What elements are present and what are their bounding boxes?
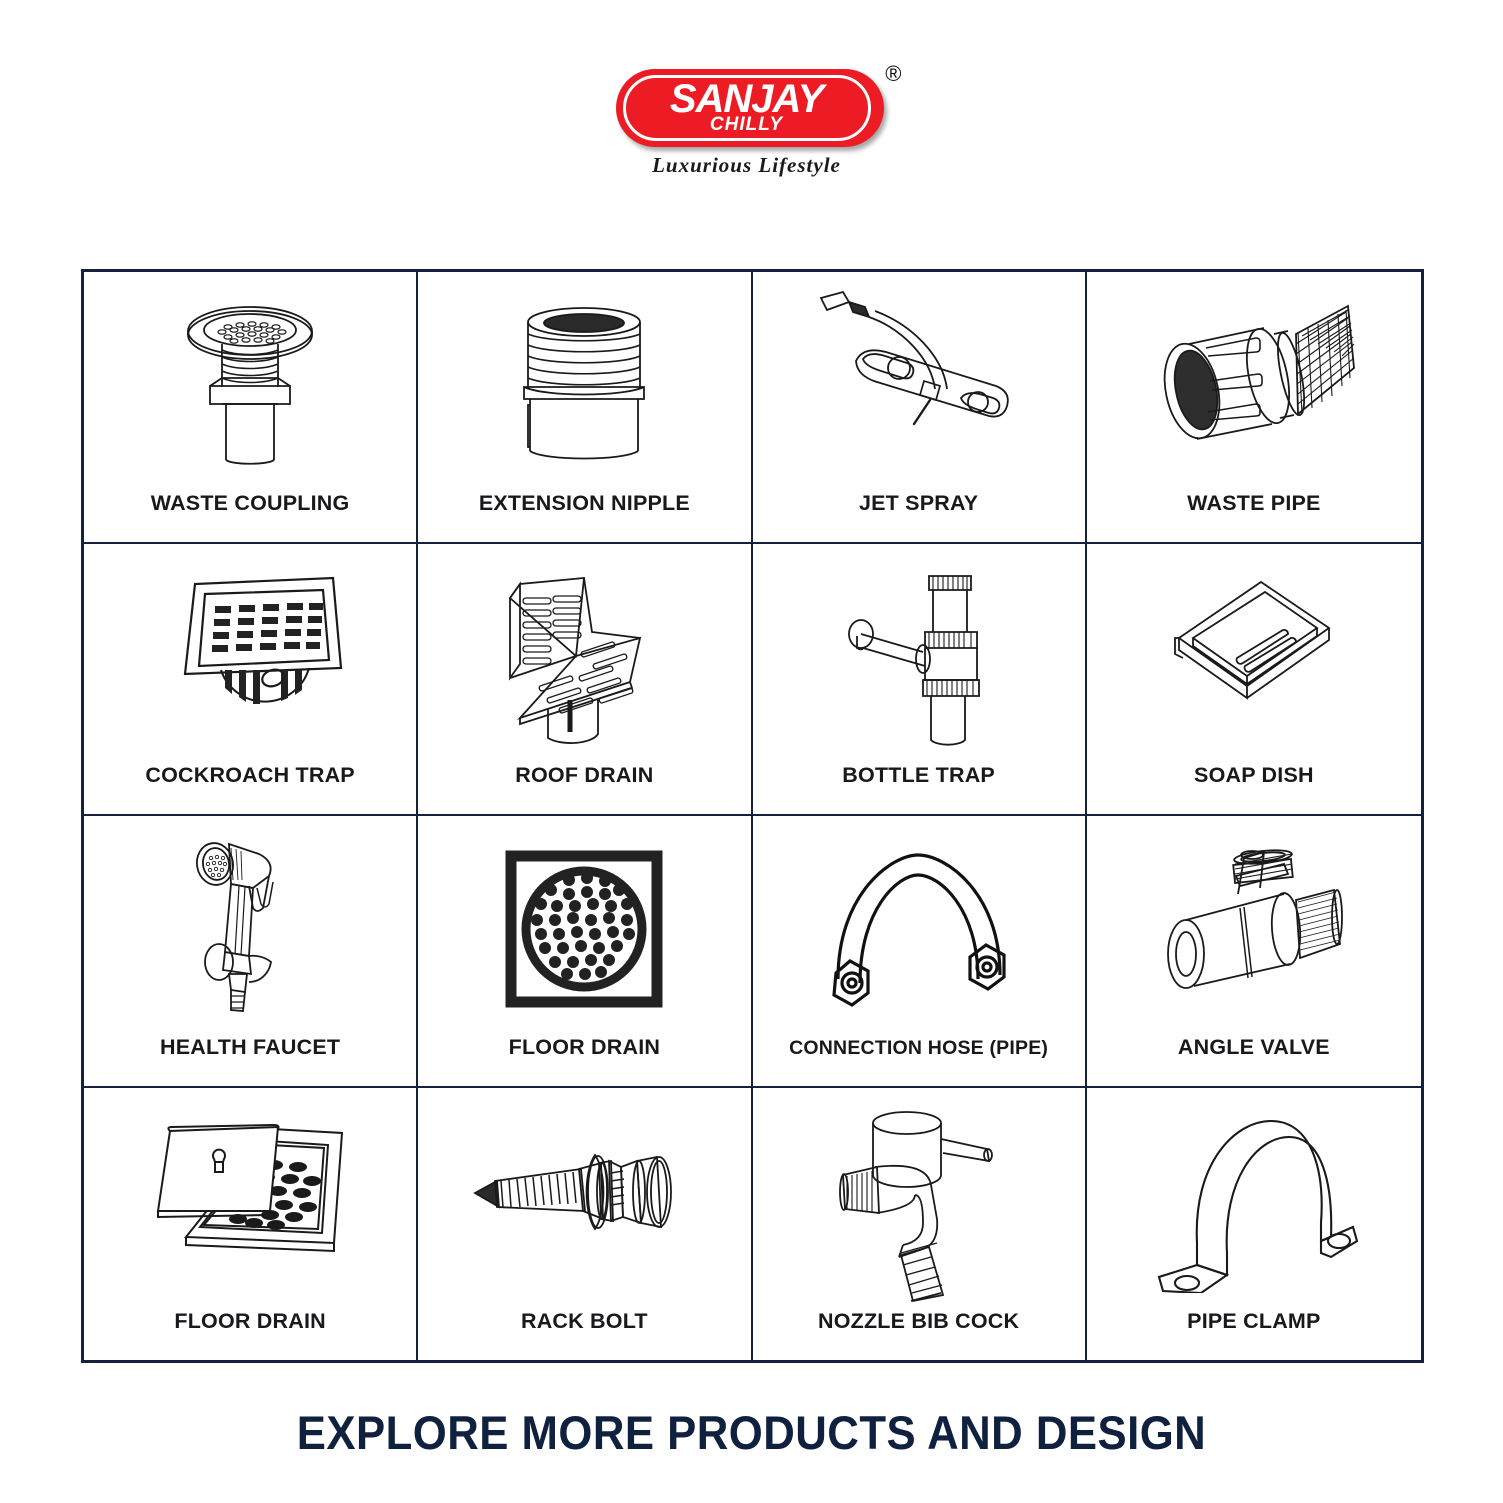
product-label: WASTE COUPLING	[84, 491, 416, 542]
product-cell-nozzle-bib-cock[interactable]: NOZZLE BIB COCK	[753, 1088, 1087, 1360]
product-grid: WASTE COUPLING EX	[81, 269, 1424, 1363]
brand-header: SANJAY CHILLY ® Luxurious Lifestyle	[0, 0, 1503, 250]
product-label: ANGLE VALVE	[1087, 1035, 1421, 1086]
product-cell-waste-pipe[interactable]: WASTE PIPE	[1087, 272, 1421, 544]
floor-drain-cover-icon	[84, 1088, 416, 1309]
product-cell-floor-drain-cover[interactable]: FLOOR DRAIN	[84, 1088, 418, 1360]
product-label: FLOOR DRAIN	[84, 1309, 416, 1360]
nozzle-bib-cock-icon	[753, 1088, 1085, 1309]
product-cell-extension-nipple[interactable]: EXTENSION NIPPLE	[418, 272, 752, 544]
pipe-clamp-icon	[1087, 1088, 1421, 1309]
product-label: FLOOR DRAIN	[418, 1035, 750, 1086]
product-label: ROOF DRAIN	[418, 763, 750, 814]
logo-brand-name: SANJAY	[602, 79, 892, 119]
sanjay-chilly-logo: SANJAY CHILLY ® Luxurious Lifestyle	[602, 63, 902, 188]
logo-brand-subname: CHILLY	[602, 115, 892, 134]
product-label: NOZZLE BIB COCK	[753, 1309, 1085, 1360]
product-cell-health-faucet[interactable]: HEALTH FAUCET	[84, 816, 418, 1088]
product-label: PIPE CLAMP	[1087, 1309, 1421, 1360]
health-faucet-icon	[84, 816, 416, 1035]
product-cell-waste-coupling[interactable]: WASTE COUPLING	[84, 272, 418, 544]
product-cell-bottle-trap[interactable]: BOTTLE TRAP	[753, 544, 1087, 816]
product-cell-connection-hose[interactable]: CONNECTION HOSE (PIPE)	[753, 816, 1087, 1088]
angle-valve-icon	[1087, 816, 1421, 1035]
product-label: HEALTH FAUCET	[84, 1035, 416, 1086]
footer-headline: EXPLORE MORE PRODUCTS AND DESIGN	[53, 1405, 1451, 1460]
product-cell-jet-spray[interactable]: JET SPRAY	[753, 272, 1087, 544]
product-cell-cockroach-trap[interactable]: COCKROACH TRAP	[84, 544, 418, 816]
bottle-trap-icon	[753, 544, 1085, 763]
product-label: COCKROACH TRAP	[84, 763, 416, 814]
cockroach-trap-icon	[84, 544, 416, 763]
soap-dish-icon	[1087, 544, 1421, 763]
floor-drain-square-icon	[418, 816, 750, 1035]
product-label: CONNECTION HOSE (PIPE)	[753, 1037, 1085, 1086]
product-cell-pipe-clamp[interactable]: PIPE CLAMP	[1087, 1088, 1421, 1360]
extension-nipple-icon	[418, 272, 750, 491]
registered-trademark-icon: ®	[885, 63, 901, 85]
product-cell-rack-bolt[interactable]: RACK BOLT	[418, 1088, 752, 1360]
roof-drain-icon	[418, 544, 750, 763]
logo-tagline: Luxurious Lifestyle	[602, 153, 892, 178]
product-label: BOTTLE TRAP	[753, 763, 1085, 814]
connection-hose-icon	[753, 816, 1085, 1037]
waste-coupling-icon	[84, 272, 416, 491]
product-label: SOAP DISH	[1087, 763, 1421, 814]
rack-bolt-icon	[418, 1088, 750, 1309]
product-cell-angle-valve[interactable]: ANGLE VALVE	[1087, 816, 1421, 1088]
waste-pipe-icon	[1087, 272, 1421, 491]
jet-spray-icon	[753, 272, 1085, 491]
product-label: EXTENSION NIPPLE	[418, 491, 750, 542]
product-cell-soap-dish[interactable]: SOAP DISH	[1087, 544, 1421, 816]
product-label: RACK BOLT	[418, 1309, 750, 1360]
product-cell-roof-drain[interactable]: ROOF DRAIN	[418, 544, 752, 816]
product-label: JET SPRAY	[753, 491, 1085, 542]
product-cell-floor-drain-square[interactable]: FLOOR DRAIN	[418, 816, 752, 1088]
product-label: WASTE PIPE	[1087, 491, 1421, 542]
